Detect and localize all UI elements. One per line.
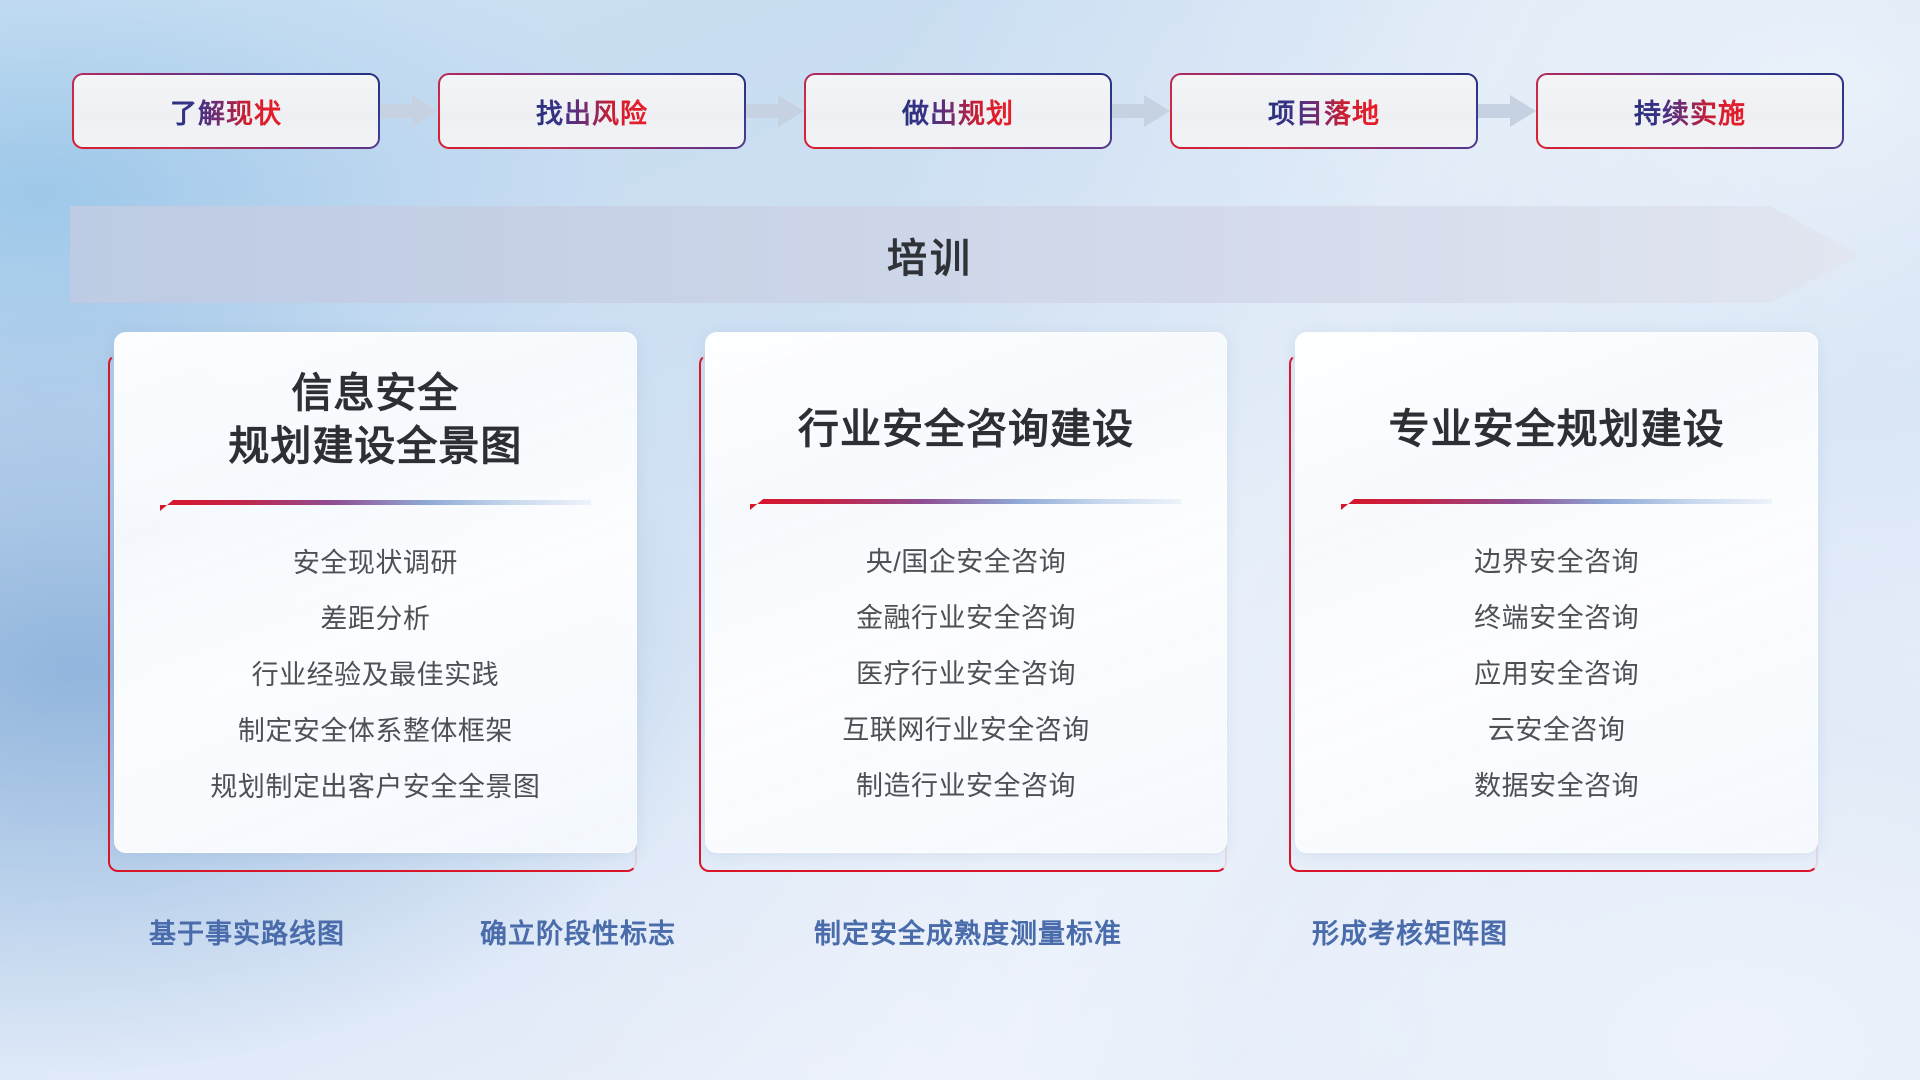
list-item[interactable]: 制定安全体系整体框架 (238, 709, 513, 754)
card-panel[interactable]: 信息安全 规划建设全景图 (114, 332, 637, 853)
card-panel[interactable]: 行业安全咨询建设 (705, 332, 1228, 853)
caption-2: 确立阶段性标志 (480, 912, 676, 951)
process-steps: 了解现状 找出风险 做出规划 项目落地 持续实施 (74, 74, 1846, 148)
step-label: 项目落地 (1268, 92, 1380, 131)
card-2: 行业安全咨询建设 (699, 332, 1228, 872)
list-item[interactable]: 终端安全咨询 (1474, 596, 1639, 641)
gradient-divider-icon (1341, 499, 1772, 510)
card-panel[interactable]: 专业安全规划建设 (1295, 332, 1818, 853)
training-banner: 培训 (70, 206, 1860, 303)
step-label: 找出风险 (536, 92, 648, 131)
card-list: 安全现状调研 差距分析 行业经验及最佳实践 制定安全体系整体框架 规划制定出客户… (141, 541, 610, 821)
list-item[interactable]: 数据安全咨询 (1474, 764, 1639, 809)
card-row: 信息安全 规划建设全景图 (108, 332, 1818, 872)
slide-canvas: 了解现状 找出风险 做出规划 项目落地 持续实施 (0, 0, 1920, 1080)
list-item[interactable]: 行业经验及最佳实践 (252, 653, 500, 698)
step-box-4[interactable]: 项目落地 (1172, 75, 1476, 147)
step-label: 持续实施 (1634, 92, 1746, 131)
list-item[interactable]: 制造行业安全咨询 (856, 764, 1076, 809)
list-item[interactable]: 边界安全咨询 (1474, 540, 1639, 585)
list-item[interactable]: 安全现状调研 (293, 541, 458, 586)
list-item[interactable]: 互联网行业安全咨询 (842, 708, 1090, 753)
card-title: 行业安全咨询建设 (798, 403, 1134, 456)
card-title: 信息安全 规划建设全景图 (228, 367, 522, 474)
card-3: 专业安全规划建设 (1289, 332, 1818, 872)
arrow-right-icon (1476, 94, 1538, 128)
arrow-right-icon (744, 94, 806, 128)
gradient-divider-icon (160, 500, 591, 511)
step-box-5[interactable]: 持续实施 (1538, 75, 1842, 147)
list-item[interactable]: 云安全咨询 (1488, 708, 1626, 753)
step-label: 了解现状 (170, 92, 282, 131)
gradient-divider-icon (750, 499, 1181, 510)
caption-3: 制定安全成熟度测量标准 (814, 912, 1122, 951)
arrow-right-icon (1110, 94, 1172, 128)
step-box-3[interactable]: 做出规划 (806, 75, 1110, 147)
list-item[interactable]: 规划制定出客户安全全景图 (210, 765, 540, 810)
list-item[interactable]: 金融行业安全咨询 (856, 596, 1076, 641)
step-label: 做出规划 (902, 92, 1014, 131)
card-list: 边界安全咨询 终端安全咨询 应用安全咨询 云安全咨询 数据安全咨询 (1322, 540, 1791, 820)
step-box-1[interactable]: 了解现状 (74, 75, 378, 147)
step-box-2[interactable]: 找出风险 (440, 75, 744, 147)
list-item[interactable]: 医疗行业安全咨询 (856, 652, 1076, 697)
list-item[interactable]: 应用安全咨询 (1474, 652, 1639, 697)
card-1: 信息安全 规划建设全景图 (108, 332, 637, 872)
caption-row: 基于事实路线图 确立阶段性标志 制定安全成熟度测量标准 形成考核矩阵图 (0, 912, 1920, 958)
banner-title: 培训 (70, 206, 1790, 303)
arrow-right-icon (378, 94, 440, 128)
card-title: 专业安全规划建设 (1389, 403, 1725, 456)
list-item[interactable]: 央/国企安全咨询 (866, 540, 1067, 585)
list-item[interactable]: 差距分析 (320, 597, 430, 642)
caption-1: 基于事实路线图 (149, 912, 345, 951)
card-list: 央/国企安全咨询 金融行业安全咨询 医疗行业安全咨询 互联网行业安全咨询 制造行… (732, 540, 1201, 820)
caption-4: 形成考核矩阵图 (1312, 912, 1508, 951)
